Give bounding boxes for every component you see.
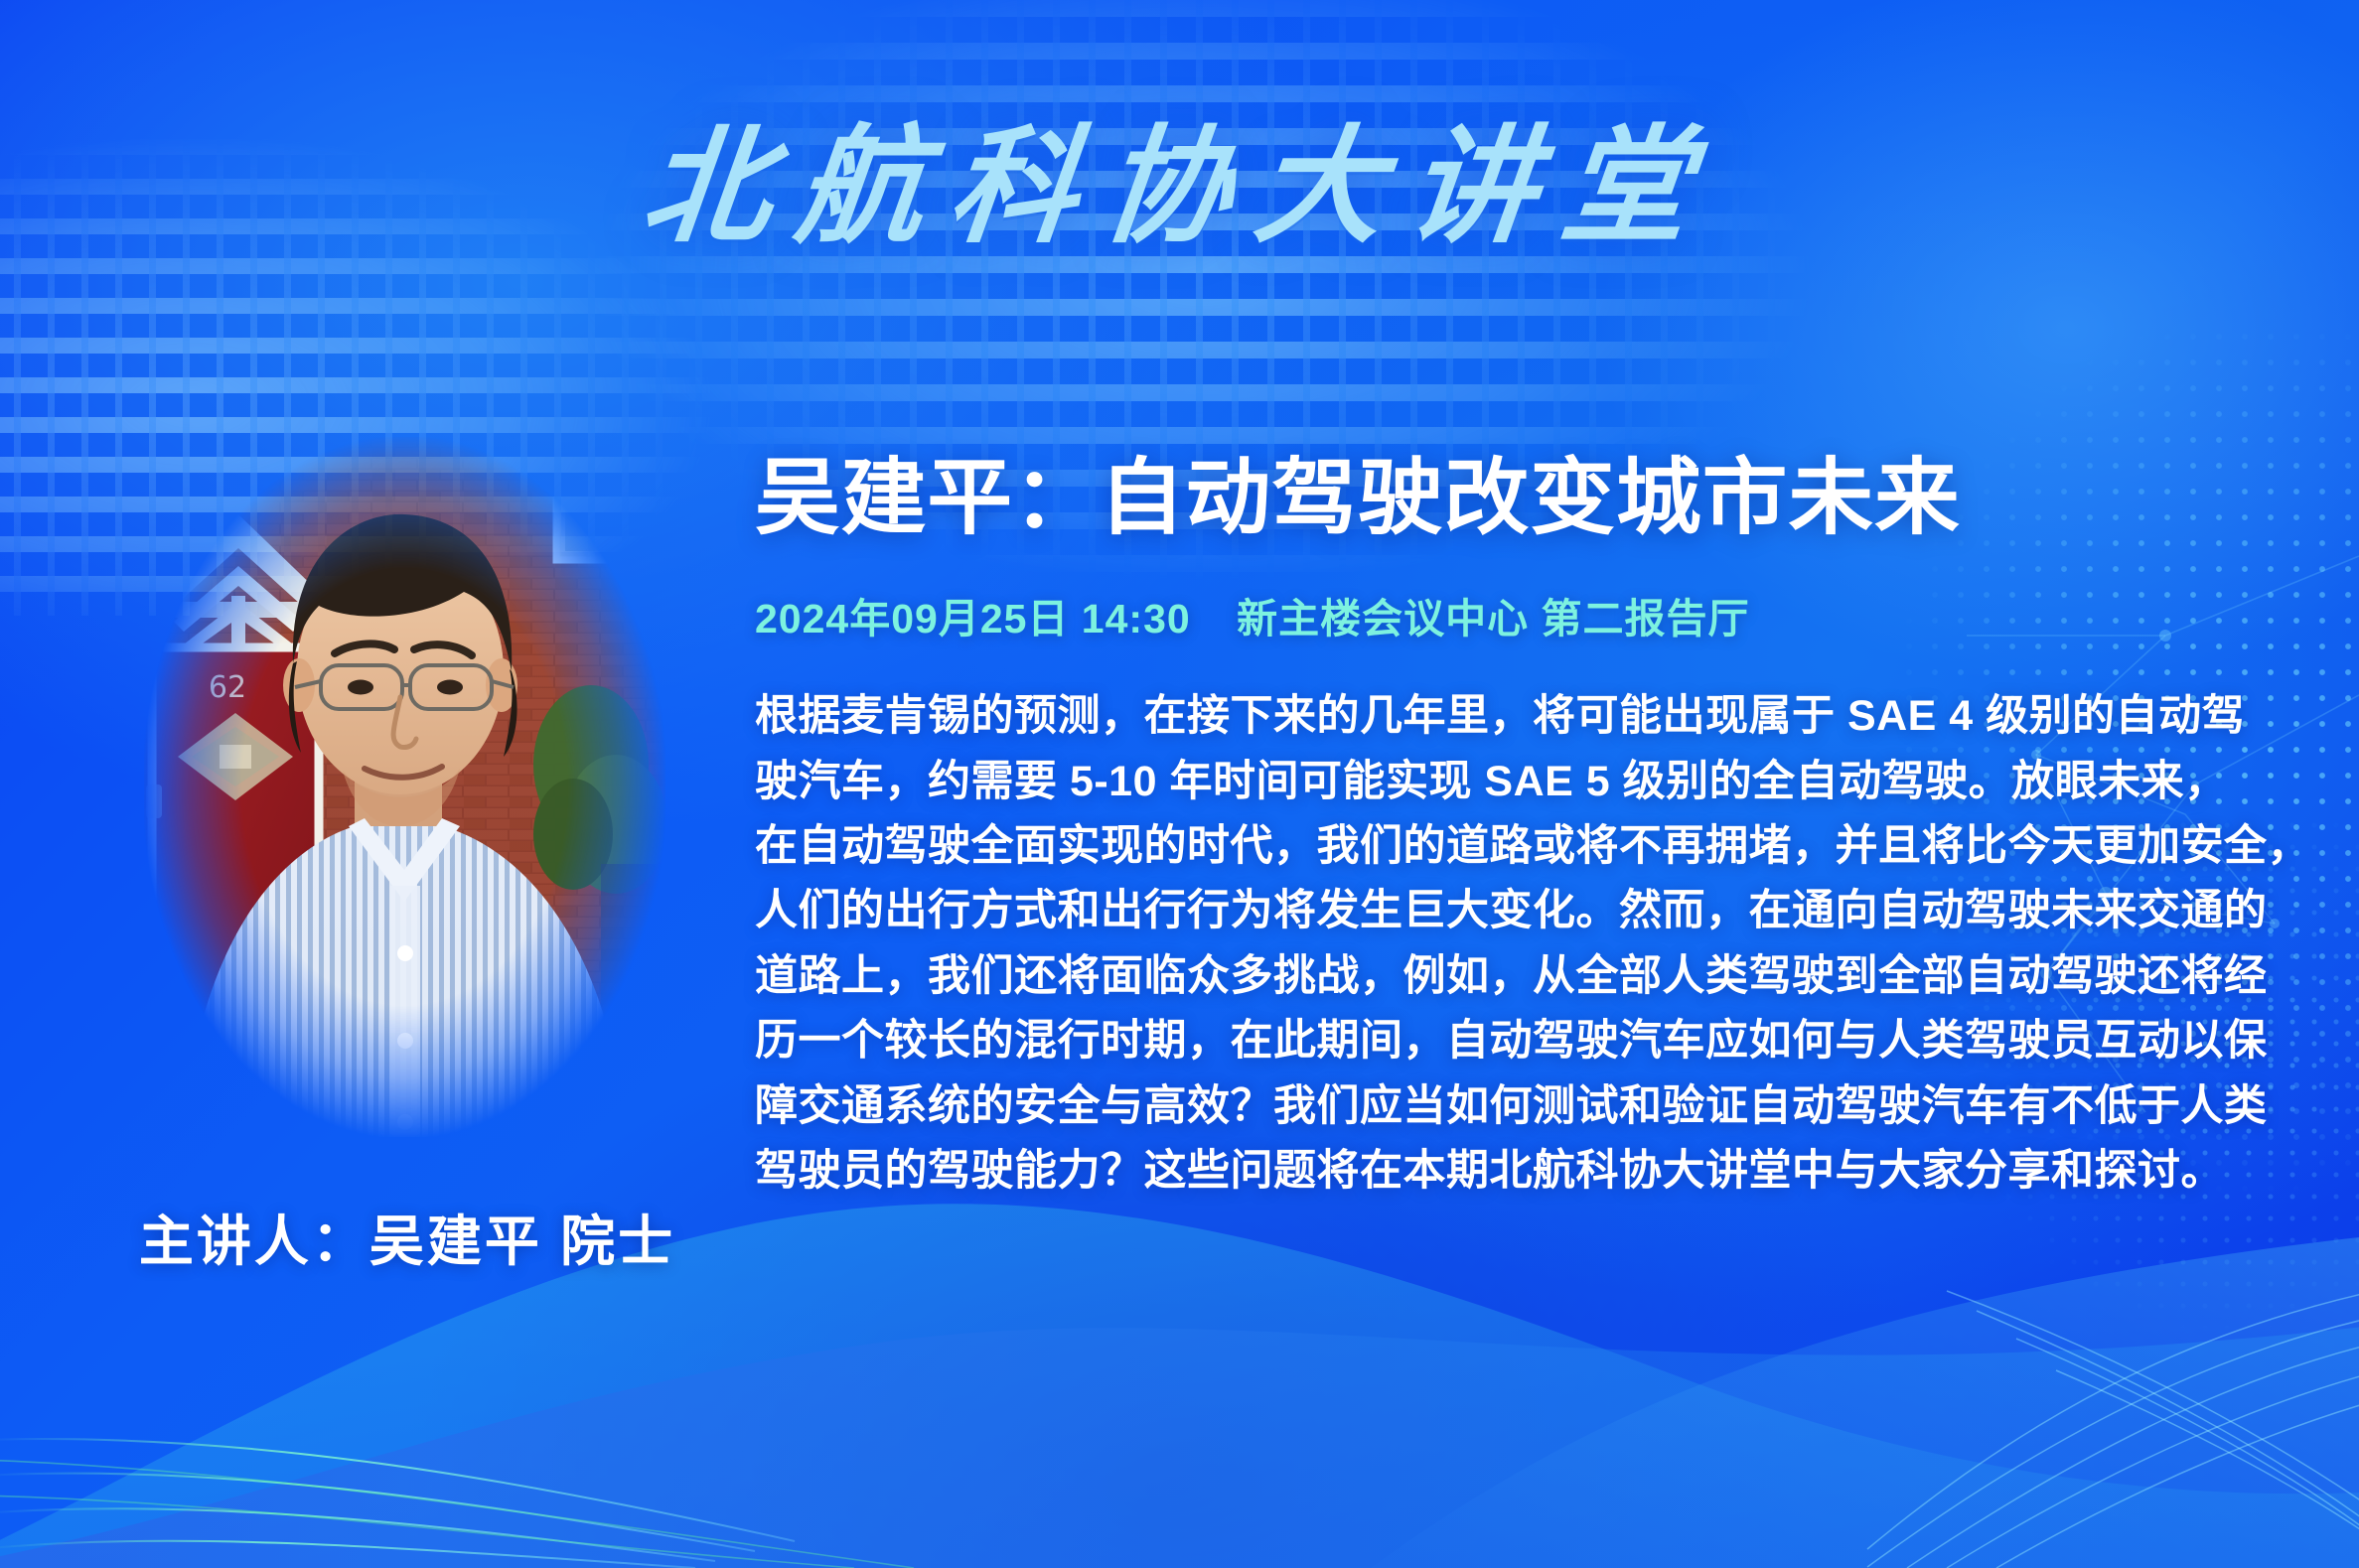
house-window [556, 475, 665, 560]
speaker-photo: 62 [144, 437, 665, 1137]
abstract-text: 根据麦肯锡的预测，在接下来的几年里，将可能出现属于 SAE 4 级别的自动驾 驶… [755, 684, 2285, 1204]
abstract-line: 人们的出行方式和出行行为将发生巨大变化。然而，在通向自动驾驶未来交通的 [755, 879, 2285, 943]
speaker-label: 主讲人：吴建平 院士 [0, 1197, 814, 1276]
talk-title: 吴建平：自动驾驶改变城市未来 [755, 452, 2315, 543]
event-venue: 新主楼会议中心 第二报告厅 [1237, 596, 1749, 641]
page-title: 北航科协大讲堂 [0, 107, 2359, 266]
event-datetime: 2024年09月25日 14:30 [755, 596, 1191, 641]
abstract-line: 根据麦肯锡的预测，在接下来的几年里，将可能出现属于 SAE 4 级别的自动驾 [755, 684, 2285, 749]
abstract-line: 道路上，我们还将面临众多挑战，例如，从全部人类驾驶到全部自动驾驶还将经 [755, 944, 2285, 1009]
portrait-illustration: 62 [144, 437, 665, 1137]
abstract-line: 障交通系统的安全与高效？我们应当如何测试和验证自动驾驶汽车有不低于人类 [755, 1074, 2285, 1139]
abstract-line: 在自动驾驶全面实现的时代，我们的道路或将不再拥堵，并且将比今天更加安全， [755, 814, 2285, 879]
event-meta: 2024年09月25日 14:30 新主楼会议中心 第二报告厅 [755, 585, 2285, 644]
speaker-photo-frame: 62 [144, 437, 665, 1137]
content-column: 吴建平：自动驾驶改变城市未来 2024年09月25日 14:30 新主楼会议中心… [755, 452, 2285, 1204]
poster-canvas: 北航科协大讲堂 [0, 0, 2359, 1568]
abstract-line: 历一个较长的混行时期，在此期间，自动驾驶汽车应如何与人类驾驶员互动以保 [755, 1009, 2285, 1073]
door-number-text: 62 [209, 670, 246, 705]
abstract-line: 驾驶员的驾驶能力？这些问题将在本期北航科协大讲堂中与大家分享和探讨。 [755, 1139, 2285, 1204]
abstract-line: 驶汽车，约需要 5-10 年时间可能实现 SAE 5 级别的全自动驾驶。放眼未来… [755, 750, 2285, 814]
